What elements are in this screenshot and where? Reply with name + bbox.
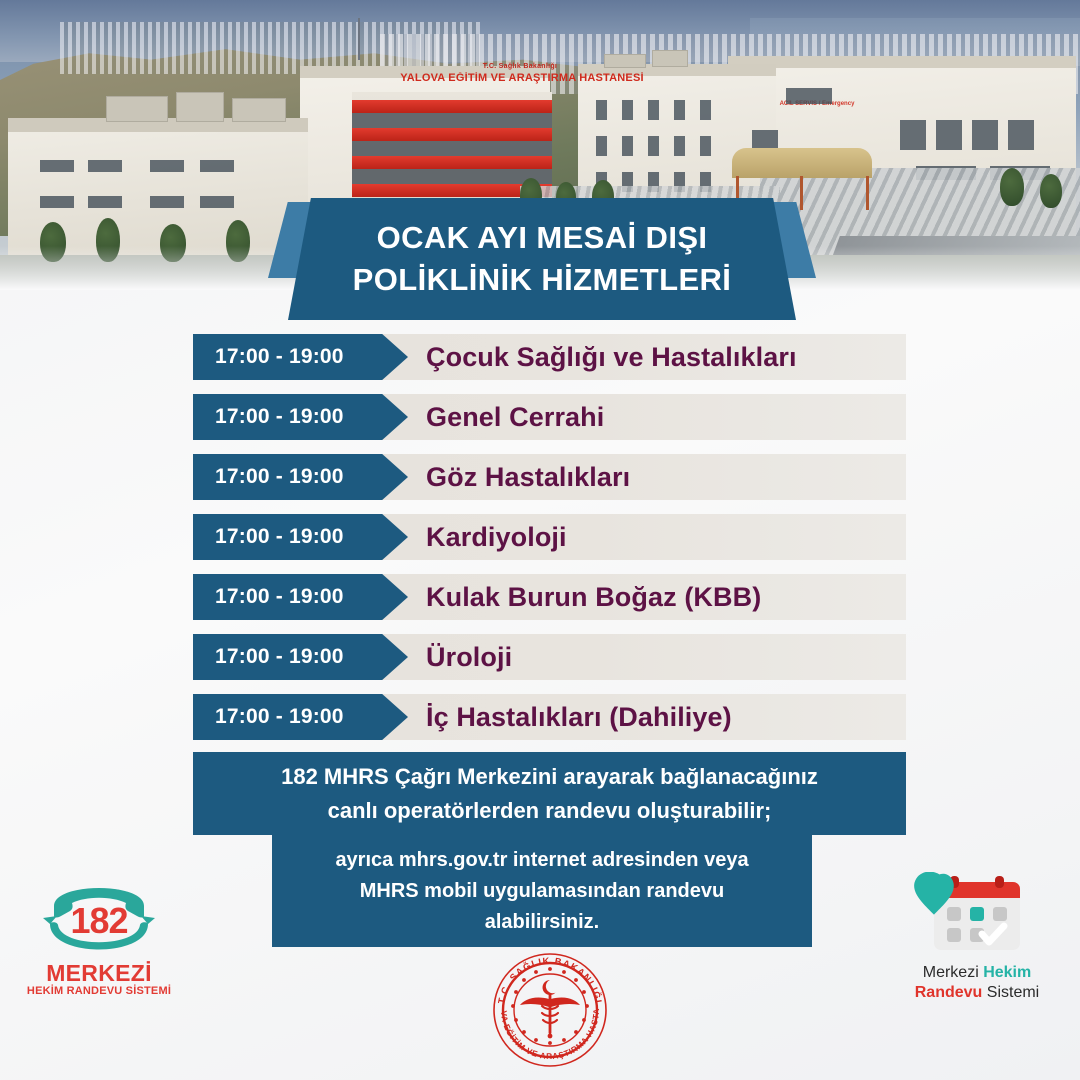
window — [936, 120, 962, 150]
hospital-roof-far — [728, 56, 1076, 68]
window — [88, 160, 122, 172]
department-label: Çocuk Sağlığı ve Hastalıkları — [408, 342, 797, 373]
schedule-list: 17:00 - 19:00 Çocuk Sağlığı ve Hastalıkl… — [193, 334, 906, 754]
poster-root: T.C. Sağlık Bakanlığı YALOVA EĞİTİM VE A… — [0, 0, 1080, 1080]
info-line-1: 182 MHRS Çağrı Merkezini arayarak bağlan… — [281, 760, 818, 794]
time-label: 17:00 - 19:00 — [193, 405, 344, 429]
calendar-heart-check-icon — [898, 872, 1056, 962]
table-row[interactable]: 17:00 - 19:00 Göz Hastalıkları — [193, 454, 906, 500]
table-row[interactable]: 17:00 - 19:00 Üroloji — [193, 634, 906, 680]
time-chip: 17:00 - 19:00 — [193, 334, 408, 380]
roof-unit — [232, 98, 286, 122]
time-chip: 17:00 - 19:00 — [193, 394, 408, 440]
table-row[interactable]: 17:00 - 19:00 Kardiyoloji — [193, 514, 906, 560]
entrance-canopy — [732, 148, 872, 178]
logo-182-subtitle: HEKİM RANDEVU SİSTEMİ — [24, 985, 174, 997]
logo-182-number: 182 — [24, 900, 174, 942]
roof-unit — [604, 54, 646, 68]
red-facade-band — [352, 100, 552, 113]
logo-182-title: MERKEZİ — [24, 960, 174, 987]
window — [150, 160, 184, 172]
time-label: 17:00 - 19:00 — [193, 345, 344, 369]
roof-unit — [106, 96, 168, 122]
logo-mhrs-hekim: Hekim — [983, 964, 1031, 981]
time-chip: 17:00 - 19:00 — [193, 694, 408, 740]
window — [674, 100, 685, 120]
title-banner: OCAK AYI MESAİ DIŞI POLİKLİNİK HİZMETLER… — [0, 198, 1080, 320]
time-label: 17:00 - 19:00 — [193, 645, 344, 669]
banner-title-line-2: POLİKLİNİK HİZMETLERİ — [353, 260, 732, 300]
window — [622, 136, 633, 156]
window — [648, 100, 659, 120]
banner-front-layer: OCAK AYI MESAİ DIŞI POLİKLİNİK HİZMETLER… — [288, 198, 796, 320]
info-line-3: ayrıca mhrs.gov.tr internet adresinden v… — [335, 845, 748, 876]
glass-band — [352, 141, 552, 156]
building-sign-main: YALOVA EĞİTİM VE ARAŞTIRMA HASTANESİ — [372, 72, 672, 84]
table-row[interactable]: 17:00 - 19:00 Kulak Burun Boğaz (KBB) — [193, 574, 906, 620]
info-line-2: canlı operatörlerden randevu oluşturabil… — [328, 794, 772, 828]
window — [40, 160, 74, 172]
time-chip: 17:00 - 19:00 — [193, 514, 408, 560]
time-label: 17:00 - 19:00 — [193, 705, 344, 729]
red-facade-band — [352, 156, 552, 169]
building-sign-top: T.C. Sağlık Bakanlığı — [430, 62, 610, 71]
roof-unit — [652, 50, 688, 67]
logo-mhrs-line-1: Merkezi Hekim — [898, 964, 1056, 982]
hospital-seal: T.C. SAĞLIK BAKANLIĞI YALOVA EĞİTİM VE A… — [490, 950, 610, 1070]
info-line-4: MHRS mobil uygulamasından randevu — [360, 876, 725, 907]
logo-mhrs: Merkezi Hekim Randevu Sistemi — [898, 872, 1056, 1007]
window — [900, 120, 926, 150]
table-row[interactable]: 17:00 - 19:00 İç Hastalıkları (Dahiliye) — [193, 694, 906, 740]
banner-title-line-1: OCAK AYI MESAİ DIŞI — [377, 218, 708, 258]
time-label: 17:00 - 19:00 — [193, 525, 344, 549]
window — [596, 100, 607, 120]
glass-band — [352, 113, 552, 128]
logo-mhrs-sistemi: Sistemi — [982, 984, 1039, 1001]
window — [200, 160, 234, 172]
logo-mhrs-randevu: Randevu — [915, 984, 983, 1001]
antenna-mast — [358, 18, 360, 60]
caduceus-crescent-seal-icon: T.C. SAĞLIK BAKANLIĞI YALOVA EĞİTİM VE A… — [490, 950, 610, 1070]
time-label: 17:00 - 19:00 — [193, 585, 344, 609]
table-row[interactable]: 17:00 - 19:00 Çocuk Sağlığı ve Hastalıkl… — [193, 334, 906, 380]
time-label: 17:00 - 19:00 — [193, 465, 344, 489]
time-chip: 17:00 - 19:00 — [193, 574, 408, 620]
window — [622, 100, 633, 120]
table-row[interactable]: 17:00 - 19:00 Genel Cerrahi — [193, 394, 906, 440]
window — [972, 120, 998, 150]
time-chip: 17:00 - 19:00 — [193, 454, 408, 500]
window — [700, 136, 711, 156]
logo-mhrs-merkezi: Merkezi — [923, 964, 983, 981]
info-box-wide: 182 MHRS Çağrı Merkezini arayarak bağlan… — [193, 752, 906, 835]
glass-band — [352, 169, 552, 184]
logo-182: 182 MERKEZİ HEKİM RANDEVU SİSTEMİ — [24, 872, 174, 1004]
time-chip: 17:00 - 19:00 — [193, 634, 408, 680]
department-label: Genel Cerrahi — [408, 402, 604, 433]
info-box-narrow: ayrıca mhrs.gov.tr internet adresinden v… — [272, 835, 812, 947]
window — [700, 100, 711, 120]
department-label: Kardiyoloji — [408, 522, 567, 553]
window — [786, 88, 832, 104]
roof-unit — [176, 92, 224, 122]
department-label: Üroloji — [408, 642, 512, 673]
red-facade-band — [352, 128, 552, 141]
department-label: Göz Hastalıkları — [408, 462, 630, 493]
window — [648, 136, 659, 156]
window — [674, 136, 685, 156]
logo-mhrs-line-2: Randevu Sistemi — [898, 984, 1056, 1002]
department-label: İç Hastalıkları (Dahiliye) — [408, 702, 732, 733]
window — [1008, 120, 1034, 150]
department-label: Kulak Burun Boğaz (KBB) — [408, 582, 761, 613]
window — [596, 136, 607, 156]
info-line-5: alabilirsiniz. — [485, 907, 599, 938]
